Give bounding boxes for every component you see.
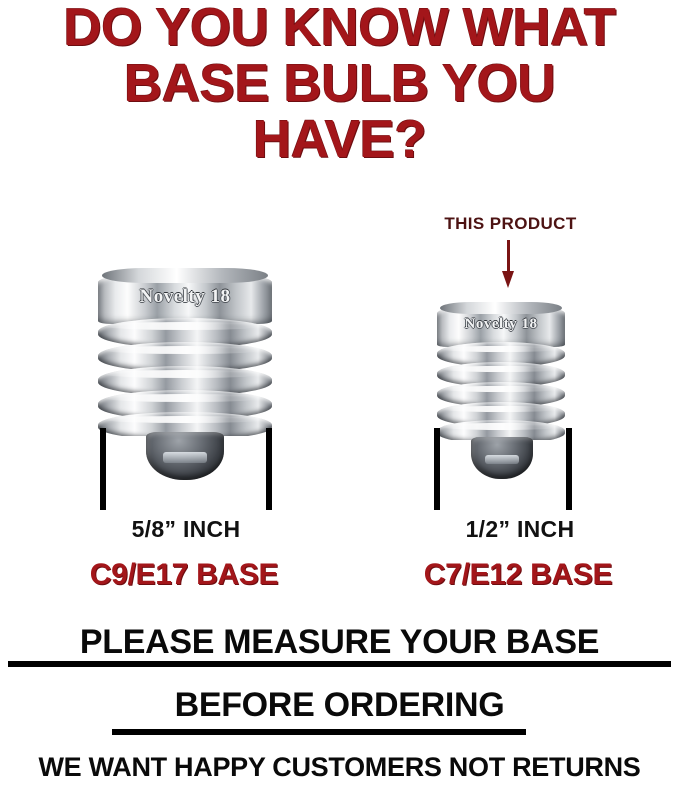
base-type-label-right: C7/E12 BASE — [368, 558, 668, 592]
instruction-line-2: BEFORE ORDERING — [0, 686, 679, 725]
bulb-contact-tip — [471, 437, 533, 479]
bulb-base-c9-e17: Novelty 18 — [98, 272, 272, 482]
base-type-label-left: C9/E17 BASE — [34, 558, 334, 592]
instruction-line-3: WE WANT HAPPY CUSTOMERS NOT RETURNS — [0, 752, 679, 783]
bulb-threads — [437, 342, 565, 440]
headline-line-3: HAVE? — [0, 112, 679, 168]
instruction-line-1: PLEASE MEASURE YOUR BASE — [0, 623, 679, 662]
measurement-label-left: 5/8” INCH — [66, 516, 306, 543]
down-arrow-icon — [501, 240, 517, 288]
page-title: DO YOU KNOW WHAT BASE BULB YOU HAVE? — [0, 0, 679, 168]
measurement-label-right: 1/2” INCH — [400, 516, 640, 543]
headline-line-2: BASE BULB YOU — [0, 56, 679, 112]
bulb-base-c7-e12: Novelty 18 — [437, 305, 565, 481]
arrow-head — [502, 271, 514, 288]
measure-bar-left-end — [266, 428, 272, 510]
measure-bar-left-start — [100, 428, 106, 510]
this-product-label: THIS PRODUCT — [398, 214, 623, 234]
instruction-underline-1 — [8, 661, 671, 667]
measure-bar-right-start — [434, 428, 440, 510]
bulb-rim-top-ellipse — [440, 302, 562, 314]
arrow-shaft — [507, 240, 510, 273]
bulb-contact-tip — [146, 432, 224, 480]
bulb-threads — [98, 318, 272, 436]
bulb-rim-top-ellipse — [102, 268, 268, 283]
headline-line-1: DO YOU KNOW WHAT — [0, 0, 679, 56]
measure-bar-right-end — [566, 428, 572, 510]
instruction-underline-2 — [112, 729, 526, 735]
